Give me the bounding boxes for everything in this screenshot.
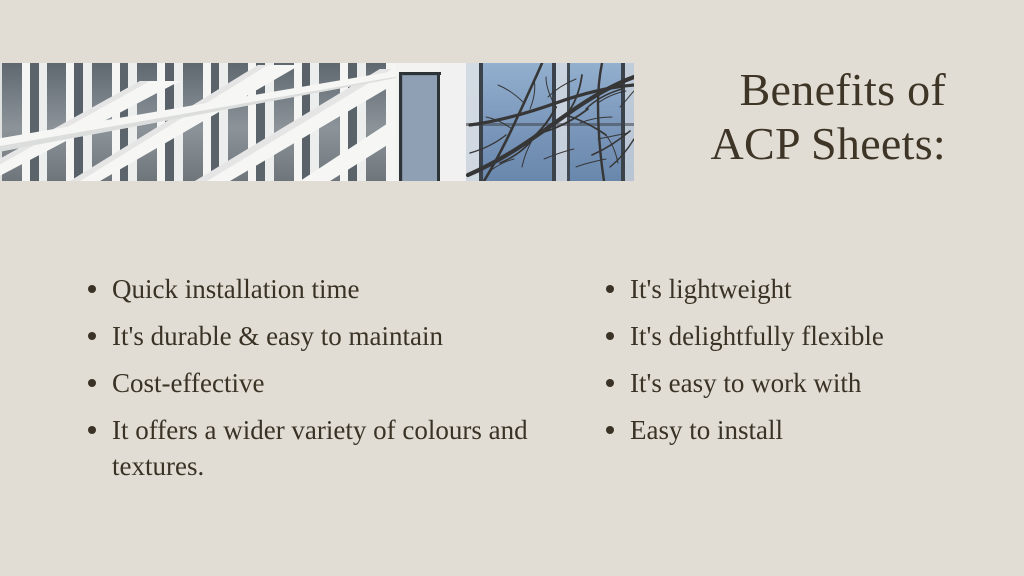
list-item: It offers a wider variety of colours and… <box>84 413 554 485</box>
list-item-label: It's delightfully flexible <box>630 319 1002 355</box>
bullet-dot-icon <box>88 285 96 293</box>
title-line-2: ACP Sheets: <box>486 117 946 171</box>
list-item: It's easy to work with <box>602 366 1002 402</box>
benefits-list-right: It's lightweight It's delightfully flexi… <box>602 272 1002 460</box>
list-item-label: It offers a wider variety of colours and… <box>112 413 554 485</box>
bullet-dot-icon <box>88 379 96 387</box>
list-item-label: Easy to install <box>630 413 1002 449</box>
bullet-dot-icon <box>606 285 614 293</box>
list-item-label: It's lightweight <box>630 272 1002 308</box>
list-item: Quick installation time <box>84 272 554 308</box>
list-item: Cost-effective <box>84 366 554 402</box>
bullet-dot-icon <box>88 426 96 434</box>
slide-canvas: Benefits of ACP Sheets: Quick installati… <box>0 0 1024 576</box>
page-title: Benefits of ACP Sheets: <box>486 63 946 172</box>
list-item-label: Quick installation time <box>112 272 554 308</box>
benefits-list-left: Quick installation time It's durable & e… <box>84 272 554 496</box>
list-item: It's delightfully flexible <box>602 319 1002 355</box>
bullet-dot-icon <box>606 426 614 434</box>
list-item-label: It's easy to work with <box>630 366 1002 402</box>
bullet-dot-icon <box>606 332 614 340</box>
title-line-1: Benefits of <box>486 63 946 117</box>
bullet-dot-icon <box>88 332 96 340</box>
list-item: It's durable & easy to maintain <box>84 319 554 355</box>
bullet-dot-icon <box>606 379 614 387</box>
list-item: It's lightweight <box>602 272 1002 308</box>
list-item-label: Cost-effective <box>112 366 554 402</box>
list-item-label: It's durable & easy to maintain <box>112 319 554 355</box>
list-item: Easy to install <box>602 413 1002 449</box>
